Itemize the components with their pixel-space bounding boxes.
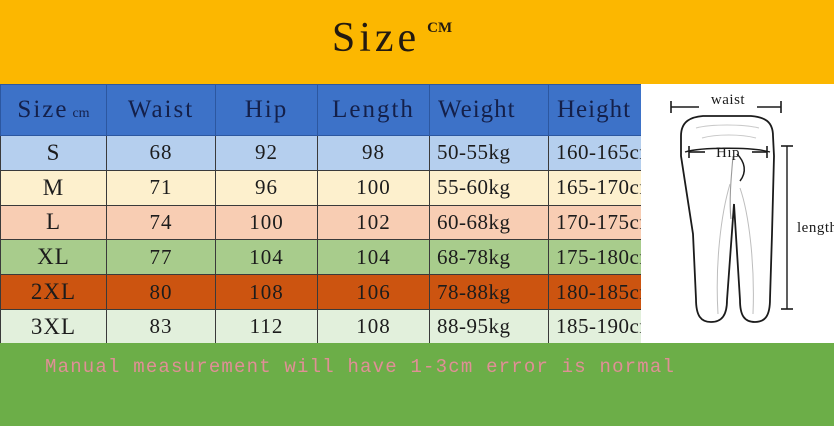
header-banner: Size CM — [0, 0, 834, 84]
right-leg-crease — [740, 188, 753, 314]
cell-weight: 55-60kg — [430, 170, 549, 205]
cell-waist: 77 — [107, 240, 216, 275]
cell-weight: 50-55kg — [430, 136, 549, 171]
cell-waist: 71 — [107, 170, 216, 205]
cell-weight: 88-95kg — [430, 309, 549, 344]
table-body: S 68 92 98 50-55kg 160-165cm M 71 96 100… — [1, 136, 664, 345]
size-table: Sizecm Waist Hip Length Weight Height S … — [0, 84, 664, 345]
column-header-hip: Hip — [216, 85, 318, 136]
table-row: S 68 92 98 50-55kg 160-165cm — [1, 136, 664, 171]
waistband-mid-shade — [702, 135, 756, 138]
cell-hip: 112 — [216, 309, 318, 344]
cell-length: 106 — [318, 275, 430, 310]
center-crease — [730, 156, 733, 219]
table-row: M 71 96 100 55-60kg 165-170cm — [1, 170, 664, 205]
cell-weight: 78-88kg — [430, 275, 549, 310]
cell-size: M — [1, 170, 107, 205]
cell-waist: 80 — [107, 275, 216, 310]
size-chart-page: Size CM Sizecm Waist Hip Length Weight H… — [0, 0, 834, 426]
page-title: Size CM — [332, 17, 452, 59]
footer-banner: Manual measurement will have 1-3cm error… — [0, 343, 834, 426]
cell-length: 108 — [318, 309, 430, 344]
hip-label: Hip — [716, 145, 740, 161]
cell-hip: 96 — [216, 170, 318, 205]
cell-weight: 60-68kg — [430, 205, 549, 240]
title-text: Size — [332, 17, 420, 59]
cell-size: S — [1, 136, 107, 171]
cell-size: L — [1, 205, 107, 240]
cell-waist: 74 — [107, 205, 216, 240]
cell-hip: 108 — [216, 275, 318, 310]
column-header-size-unit: cm — [72, 106, 89, 121]
length-label: length — [797, 220, 834, 236]
column-header-size: Sizecm — [1, 85, 107, 136]
cell-hip: 92 — [216, 136, 318, 171]
cell-length: 98 — [318, 136, 430, 171]
pants-diagram-svg: waist Hip — [641, 84, 834, 343]
cell-hip: 104 — [216, 240, 318, 275]
table-header-row: Sizecm Waist Hip Length Weight Height — [1, 85, 664, 136]
pants-diagram-panel: waist Hip — [641, 84, 834, 343]
cell-length: 104 — [318, 240, 430, 275]
waist-dimension: waist — [671, 92, 781, 113]
column-header-length: Length — [318, 85, 430, 136]
measurement-note: Manual measurement will have 1-3cm error… — [45, 356, 675, 378]
table-row: L 74 100 102 60-68kg 170-175cm — [1, 205, 664, 240]
column-header-size-label: Size — [17, 96, 68, 123]
table-header: Sizecm Waist Hip Length Weight Height — [1, 85, 664, 136]
column-header-weight: Weight — [430, 85, 549, 136]
table-row: XL 77 104 104 68-78kg 175-180cm — [1, 240, 664, 275]
cell-size: 3XL — [1, 309, 107, 344]
table-row: 2XL 80 108 106 78-88kg 180-185cm — [1, 275, 664, 310]
cell-hip: 100 — [216, 205, 318, 240]
cell-size: XL — [1, 240, 107, 275]
cell-length: 100 — [318, 170, 430, 205]
table-row: 3XL 83 112 108 88-95kg 185-190cm — [1, 309, 664, 344]
waist-label: waist — [711, 92, 745, 108]
cell-waist: 83 — [107, 309, 216, 344]
cell-length: 102 — [318, 205, 430, 240]
cell-size: 2XL — [1, 275, 107, 310]
length-dimension: length — [781, 146, 834, 309]
cell-waist: 68 — [107, 136, 216, 171]
column-header-waist: Waist — [107, 85, 216, 136]
waistband-top-shade — [696, 125, 759, 128]
cell-weight: 68-78kg — [430, 240, 549, 275]
title-unit-text: CM — [427, 21, 452, 36]
hip-dimension: Hip — [689, 145, 767, 161]
